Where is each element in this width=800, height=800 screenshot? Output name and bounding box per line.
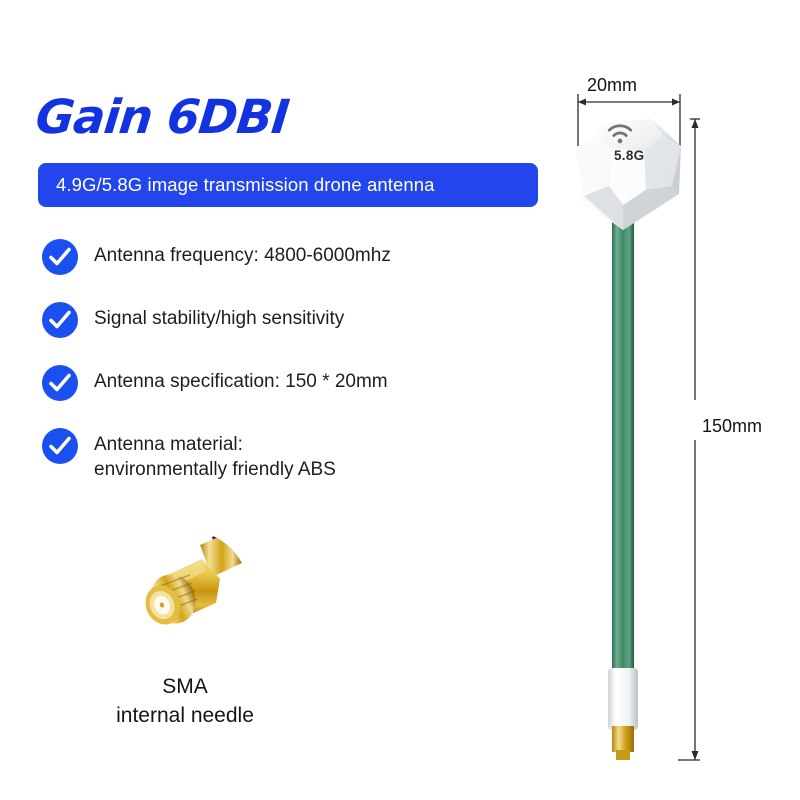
product-photo — [540, 60, 770, 780]
subtitle-text: 4.9G/5.8G image transmission drone anten… — [56, 174, 435, 196]
check-icon — [42, 428, 78, 464]
list-item: Signal stability/high sensitivity — [42, 300, 512, 342]
sma-connector-photo — [116, 529, 251, 664]
sma-caption: SMA internal needle — [60, 672, 310, 730]
check-icon — [42, 302, 78, 338]
band-label: 5.8G — [614, 148, 644, 163]
feature-text: Antenna frequency: 4800-6000mhz — [94, 237, 391, 268]
page-title: Gain 6DBI — [33, 90, 291, 145]
sma-connector-end — [612, 726, 634, 752]
subtitle-banner: 4.9G/5.8G image transmission drone anten… — [38, 163, 538, 207]
check-icon — [42, 239, 78, 275]
dimension-line-length — [678, 119, 700, 760]
feature-text: Signal stability/high sensitivity — [94, 300, 344, 331]
cable-sleeve — [608, 668, 638, 730]
antenna-cable — [612, 220, 634, 678]
list-item: Antenna specification: 150 * 20mm — [42, 363, 512, 405]
antenna-dome — [576, 119, 681, 230]
check-icon — [42, 365, 78, 401]
feature-list: Antenna frequency: 4800-6000mhz Signal s… — [42, 237, 512, 503]
feature-text: Antenna specification: 150 * 20mm — [94, 363, 388, 394]
list-item: Antenna material: environmentally friend… — [42, 426, 512, 482]
feature-text: Antenna material: environmentally friend… — [94, 426, 336, 482]
sma-connector-circle — [116, 529, 251, 664]
list-item: Antenna frequency: 4800-6000mhz — [42, 237, 512, 279]
